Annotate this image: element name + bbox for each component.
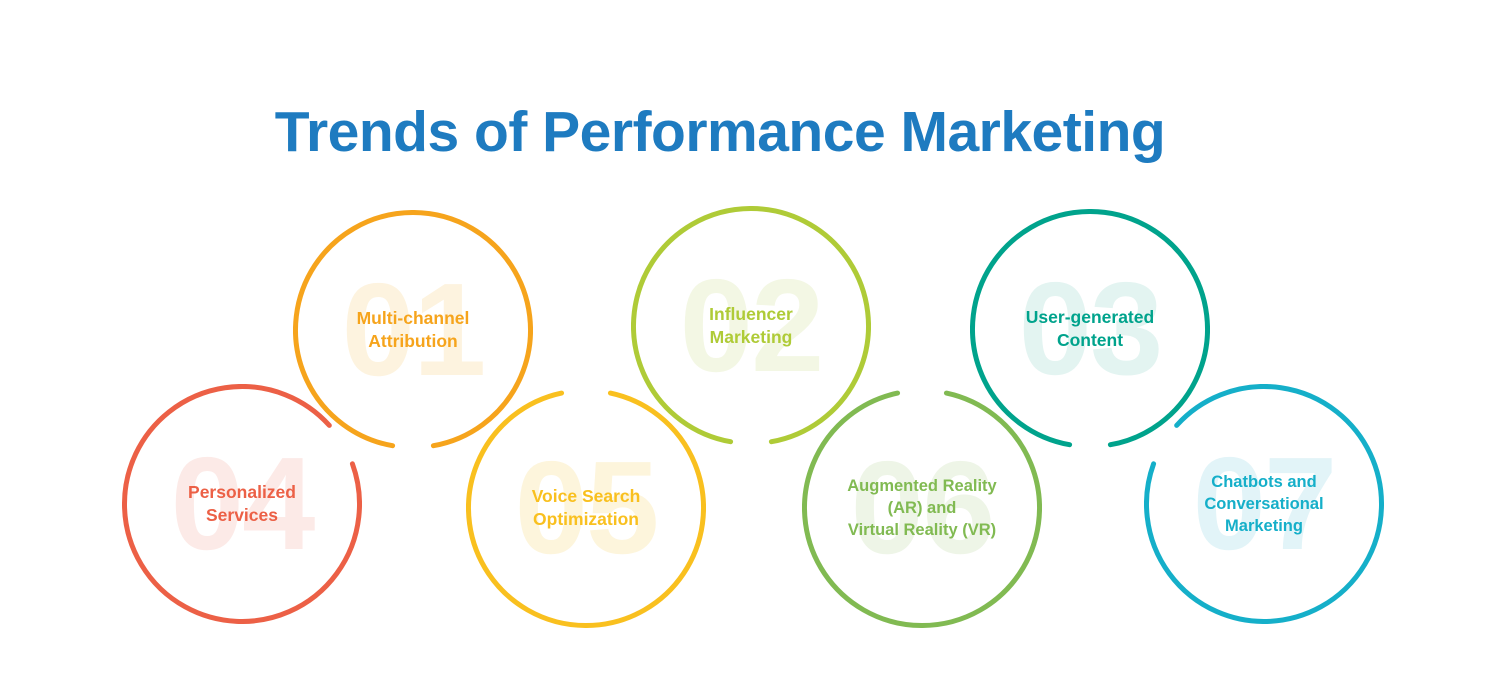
node-label-line: Marketing: [1225, 517, 1303, 535]
node-label-line: Marketing: [710, 327, 793, 347]
trend-node-05[interactable]: 05Voice SearchOptimization: [466, 388, 706, 628]
node-label-01: Multi-channelAttribution: [309, 307, 517, 353]
node-label-line: Personalized: [188, 482, 296, 502]
node-label-line: Optimization: [533, 509, 639, 529]
node-label-line: Augmented Reality: [847, 477, 996, 495]
node-label-04: PersonalizedServices: [138, 481, 346, 527]
node-label-line: Multi-channel: [357, 308, 470, 328]
node-label-line: Virtual Reality (VR): [848, 521, 996, 539]
node-label-line: Conversational: [1204, 495, 1323, 513]
node-label-line: Attribution: [368, 331, 457, 351]
node-label-line: Services: [206, 505, 278, 525]
trend-node-06[interactable]: 06Augmented Reality(AR) andVirtual Reali…: [802, 388, 1042, 628]
node-label-line: Voice Search: [532, 486, 641, 506]
node-label-line: Chatbots and: [1211, 473, 1316, 491]
node-label-line: Content: [1057, 330, 1123, 350]
node-label-05: Voice SearchOptimization: [482, 485, 690, 531]
trend-node-04[interactable]: 04PersonalizedServices: [122, 384, 362, 624]
node-label-06: Augmented Reality(AR) andVirtual Reality…: [814, 475, 1030, 541]
infographic-canvas: Trends of Performance Marketing 01Multi-…: [0, 0, 1508, 689]
node-label-line: User-generated: [1026, 307, 1154, 327]
node-label-07: Chatbots andConversationalMarketing: [1156, 471, 1372, 537]
page-title: Trends of Performance Marketing: [0, 96, 1440, 168]
node-label-line: (AR) and: [888, 499, 957, 517]
trend-node-07[interactable]: 07Chatbots andConversationalMarketing: [1144, 384, 1384, 624]
node-label-line: Influencer: [709, 304, 793, 324]
node-label-03: User-generatedContent: [986, 306, 1194, 352]
node-label-02: InfluencerMarketing: [647, 303, 855, 349]
